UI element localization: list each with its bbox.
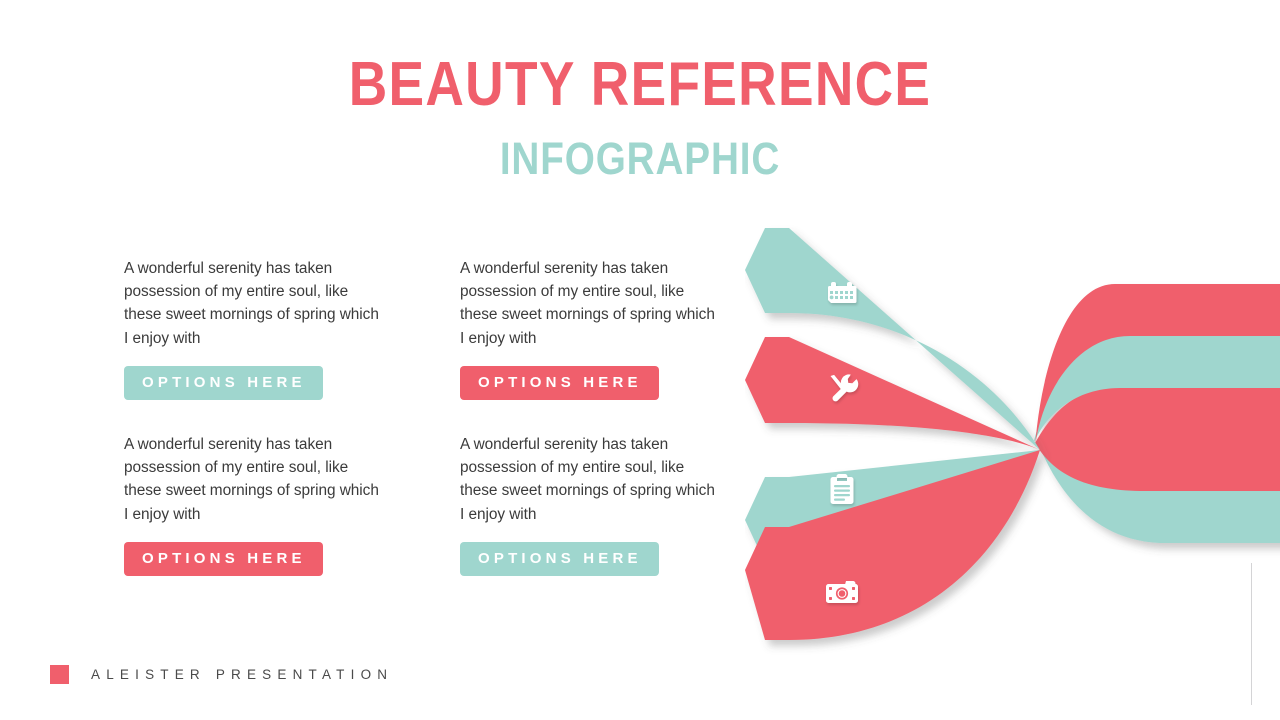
options-here-button-3[interactable]: Options Here	[124, 542, 323, 576]
footer-brand: ALEISTER PRESENTATION	[50, 665, 393, 684]
content-block-2: A wonderful serenity has taken possessio…	[460, 257, 722, 400]
content-paragraph: A wonderful serenity has taken possessio…	[460, 433, 722, 526]
content-paragraph: A wonderful serenity has taken possessio…	[460, 257, 722, 350]
ribbon-bands	[1033, 284, 1280, 543]
band-red-lower	[1035, 388, 1280, 491]
brand-square-icon	[50, 665, 69, 684]
page-title: BEAUTY REFERENCE	[90, 52, 1191, 118]
options-here-button-4[interactable]: Options Here	[460, 542, 659, 576]
slide-canvas: BEAUTY REFERENCE INFOGRAPHIC A wonderful…	[0, 0, 1280, 720]
slide-heading: BEAUTY REFERENCE INFOGRAPHIC	[0, 52, 1280, 184]
content-paragraph: A wonderful serenity has taken possessio…	[124, 433, 386, 526]
vertical-divider	[1251, 563, 1252, 705]
options-here-button-2[interactable]: Options Here	[460, 366, 659, 400]
options-here-button-1[interactable]: Options Here	[124, 366, 323, 400]
petal-red-second	[745, 337, 1040, 450]
page-subtitle: INFOGRAPHIC	[90, 134, 1191, 184]
content-paragraph: A wonderful serenity has taken possessio…	[124, 257, 386, 350]
footer-brand-label: ALEISTER PRESENTATION	[91, 665, 393, 684]
content-block-3: A wonderful serenity has taken possessio…	[124, 433, 386, 576]
petal-ribbon-graphic	[745, 205, 1280, 665]
petal-wedges	[745, 228, 1040, 640]
content-block-1: A wonderful serenity has taken possessio…	[124, 257, 386, 400]
content-block-4: A wonderful serenity has taken possessio…	[460, 433, 722, 576]
